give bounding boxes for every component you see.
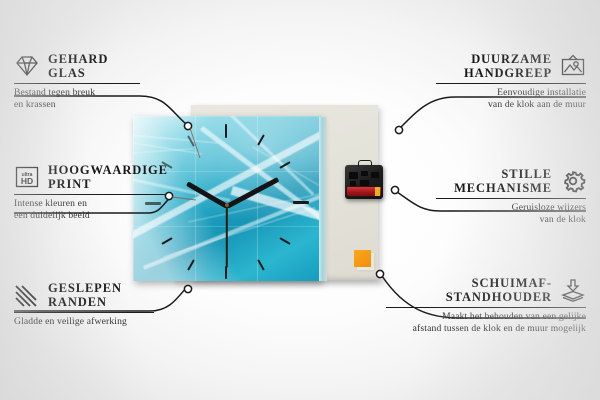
callout-node	[391, 186, 398, 193]
feature-hoogwaardige-print[interactable]: ultra HD HOOGWAARDIGE PRINT Intense kleu…	[14, 163, 189, 221]
clock-tick	[225, 124, 227, 138]
infographic-canvas: GEHARD GLAS Bestand tegen breuk en krass…	[0, 0, 600, 400]
divider	[14, 83, 140, 84]
feature-schuimafstandhouder[interactable]: SCHUIMAF- STANDHOUDER Maakt het behouden…	[386, 276, 586, 334]
picture-frame-icon	[560, 54, 586, 78]
feature-title: GEHARD	[48, 52, 108, 66]
svg-text:HD: HD	[21, 176, 33, 186]
feature-title-2: MECHANISME	[454, 181, 552, 195]
hanger-lug	[358, 160, 372, 167]
feature-stille-mechanisme[interactable]: STILLE MECHANISME Geruisloze wijzers van…	[436, 167, 586, 225]
feature-title: SCHUIMAF-	[446, 276, 552, 290]
glass-edge	[319, 117, 327, 281]
feature-gehard-glas[interactable]: GEHARD GLAS Bestand tegen breuk en krass…	[14, 52, 164, 110]
feature-geslepen-randen[interactable]: GESLEPEN RANDEN Gladde en veilige afwerk…	[14, 281, 174, 328]
feature-title-2: GLAS	[48, 66, 108, 80]
feature-title-2: RANDEN	[48, 295, 122, 309]
feature-title-2: STANDHOUDER	[446, 290, 552, 304]
gear-icon	[560, 169, 586, 193]
feature-desc-2: van de klok	[436, 214, 586, 226]
clock-center-pin	[225, 203, 229, 207]
press-down-pad-icon	[560, 278, 586, 302]
feature-desc-2: een duidelijk beeld	[14, 210, 189, 222]
feature-title: HOOGWAARDIGE	[48, 163, 168, 177]
clock-second-hand	[226, 205, 228, 267]
divider	[14, 194, 166, 195]
divider	[436, 83, 586, 84]
feature-title: STILLE	[454, 167, 552, 181]
callout-node	[395, 126, 402, 133]
divider	[386, 307, 586, 308]
feature-desc-2: en krassen	[14, 99, 164, 111]
feature-desc: Intense kleuren en	[14, 198, 189, 210]
feature-desc: Gladde en veilige afwerking	[14, 316, 174, 328]
clock-mechanism	[345, 165, 383, 199]
divider	[14, 312, 154, 313]
feature-title: DUURZAME	[464, 52, 552, 66]
divider	[436, 198, 586, 199]
feature-title-2: HANDGREEP	[464, 66, 552, 80]
diamond-icon	[14, 54, 40, 78]
clock-tick	[225, 266, 227, 279]
clock-tick	[293, 201, 309, 204]
feature-desc-2: van de klok aan de muur	[436, 99, 586, 111]
battery	[347, 187, 381, 196]
foam-spacer-pad	[354, 250, 371, 267]
feature-title: GESLEPEN	[48, 281, 122, 295]
ultra-hd-icon: ultra HD	[14, 165, 40, 189]
feature-desc: Eenvoudige installatie	[436, 87, 586, 99]
feature-desc: Bestand tegen breuk	[14, 87, 164, 99]
feature-duurzame-handgreep[interactable]: DUURZAME HANDGREEP Eenvoudige installati…	[436, 52, 586, 110]
feature-desc-2: afstand tussen de klok en de muur mogeli…	[386, 323, 586, 335]
feature-title-2: PRINT	[48, 177, 168, 191]
feature-desc: Geruisloze wijzers	[436, 202, 586, 214]
feature-desc: Maakt het behouden van een gelijke	[386, 311, 586, 323]
diagonal-lines-icon	[14, 283, 40, 307]
